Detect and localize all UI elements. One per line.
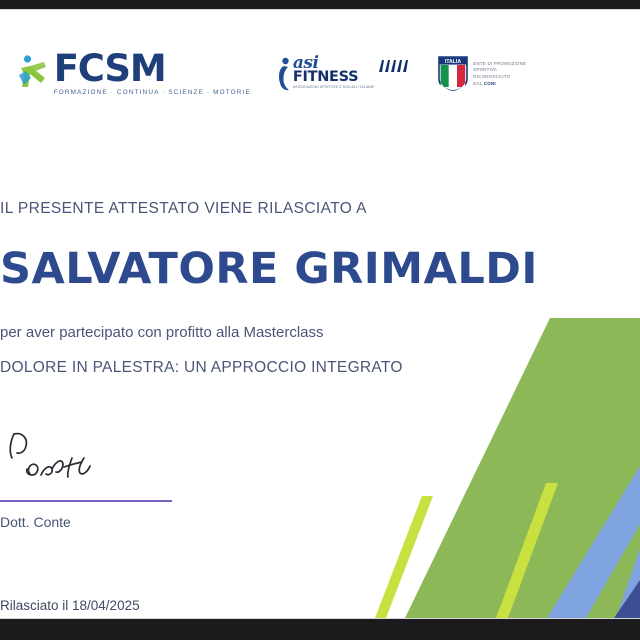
document-viewer[interactable]: FCSM FORMAZIONE · CONTINUA · SCIENZE · M…: [0, 0, 640, 640]
asi-fitness-logo: asi FITNESS ASSOCIAZIONI SPORTIVE E SOCI…: [277, 55, 412, 93]
coni-acronym: CONI: [484, 81, 496, 86]
signature-block: Dott. Conte: [0, 428, 230, 530]
fcsm-logo: FCSM FORMAZIONE · CONTINUA · SCIENZE · M…: [18, 52, 251, 96]
recipient-name: SALVATORE GRIMALDI: [0, 244, 560, 294]
asi-figure-icon: [277, 57, 291, 93]
fcsm-tagline: FORMAZIONE · CONTINUA · SCIENZE · MOTORI…: [54, 89, 251, 96]
course-title: DOLORE IN PALESTRA: UN APPROCCIO INTEGRA…: [0, 359, 560, 377]
svg-text:ITALIA: ITALIA: [445, 59, 461, 65]
certificate-reason-line: per aver partecipato con profitto alla M…: [0, 324, 560, 341]
signature-rule: [0, 500, 172, 502]
coni-text-line-3: RICONOSCIUTO: [473, 74, 526, 81]
coni-recognition-logo: ITALIA ENTE DI PROMOZIONE SPORTIVA RICON…: [438, 56, 526, 92]
certificate-body: IL PRESENTE ATTESTATO VIENE RILASCIATO A…: [0, 200, 560, 377]
asi-subtitle: ASSOCIAZIONI SPORTIVE E SOCIALI ITALIANE: [293, 86, 374, 89]
certificate-lead-line: IL PRESENTE ATTESTATO VIENE RILASCIATO A: [0, 200, 560, 218]
asi-motion-strokes-icon: [378, 59, 412, 72]
certificate-page: FCSM FORMAZIONE · CONTINUA · SCIENZE · M…: [0, 10, 640, 618]
signer-name: Dott. Conte: [0, 514, 230, 530]
fcsm-figure-icon: [18, 54, 48, 88]
coni-recognition-text: ENTE DI PROMOZIONE SPORTIVA RICONOSCIUTO…: [473, 61, 526, 87]
logo-row: FCSM FORMAZIONE · CONTINUA · SCIENZE · M…: [0, 52, 640, 96]
coni-text-line-1: ENTE DI PROMOZIONE: [473, 61, 526, 68]
fcsm-wordmark: FCSM: [54, 52, 251, 86]
coni-text-line-2: SPORTIVA: [473, 67, 526, 74]
italia-shield-icon: ITALIA: [438, 56, 468, 92]
coni-text-line-4: DAL CONI: [473, 81, 526, 88]
asi-fitness-wordmark: FITNESS: [293, 70, 374, 85]
coni-text-line-4-prefix: DAL: [473, 81, 484, 86]
handwritten-signature: [0, 428, 150, 498]
issue-date: Rilasciato il 18/04/2025: [0, 598, 140, 613]
